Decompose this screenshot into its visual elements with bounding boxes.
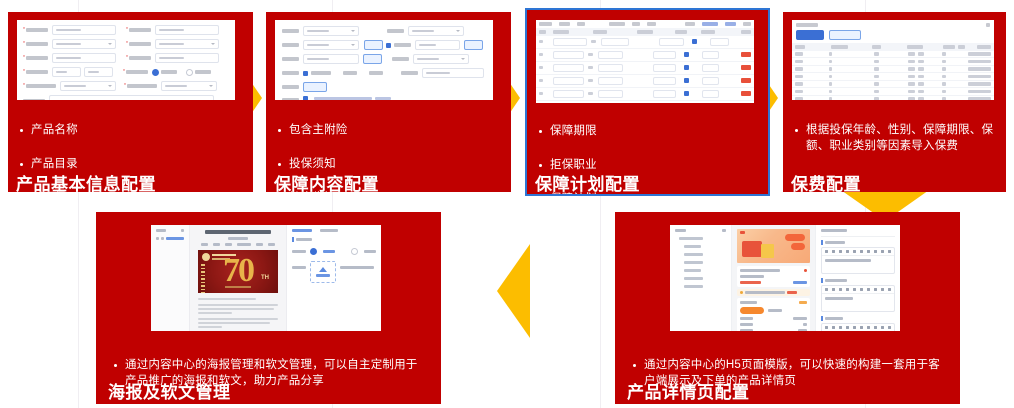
required-star-icon: * <box>126 56 128 60</box>
anniversary-th: TH <box>261 275 269 281</box>
required-star-icon: * <box>124 84 126 88</box>
poster-settings-panel[interactable] <box>286 225 381 331</box>
card-premium-config[interactable]: 根据投保年龄、性别、保障期限、保额、职业类别等因素导入保费 保费配置 <box>783 12 1006 192</box>
action-button[interactable] <box>363 54 382 64</box>
list-item: 包含主附险 <box>276 122 505 139</box>
table-row[interactable] <box>536 49 754 62</box>
select-field[interactable] <box>60 81 116 91</box>
card-coverage-content[interactable]: 包含主附险 投保须知 健康告知 保障条款 保障内容配置 <box>266 12 511 192</box>
card-title-product-detail-page: 产品详情页配置 <box>627 378 750 403</box>
plan-selector-card <box>737 298 810 331</box>
editor-toolbar[interactable] <box>822 248 894 256</box>
screenshot-product-basic-info-form: * * * * <box>17 20 235 100</box>
screenshot-coverage-plan-table <box>536 20 754 103</box>
list-item: 保障期限 <box>537 123 762 140</box>
screenshot-coverage-content-form <box>275 20 493 100</box>
action-button[interactable] <box>364 40 383 50</box>
card-title-coverage-content: 保障内容配置 <box>274 170 379 192</box>
h5-category-tree[interactable] <box>670 225 732 331</box>
card-product-basic-info[interactable]: * * * * <box>8 12 253 192</box>
card-product-detail-page[interactable]: 通过内容中心的H5页面模版，可以快速的构建一套用于客户端展示及下单的产品详情页 … <box>615 212 960 404</box>
required-star-icon: * <box>126 28 128 32</box>
promo-banner <box>737 229 810 263</box>
upload-icon <box>319 267 327 272</box>
list-item: 根据投保年龄、性别、保障期限、保额、职业类别等因素导入保费 <box>793 122 996 155</box>
flow-diagram: * * * * <box>0 0 1014 408</box>
arrow-detail-to-poster-icon <box>497 244 530 338</box>
table-row[interactable] <box>536 62 754 75</box>
rich-text-editor[interactable] <box>821 247 895 274</box>
required-star-icon: * <box>23 56 25 60</box>
table-row[interactable] <box>536 88 754 101</box>
editor-toolbar[interactable] <box>822 286 894 294</box>
required-star-icon: * <box>23 42 25 46</box>
table-row[interactable] <box>792 88 994 96</box>
checkbox-icon[interactable] <box>684 91 688 96</box>
rich-text-editor[interactable] <box>821 323 895 331</box>
card-title-product-basic-info: 产品基本信息配置 <box>16 170 156 192</box>
radio-on-icon[interactable] <box>152 69 159 76</box>
table-row[interactable] <box>792 58 994 66</box>
poster-preview: 70 TH <box>190 225 286 331</box>
table-row[interactable] <box>536 36 754 49</box>
editor-toolbar[interactable] <box>822 324 894 331</box>
card-title-premium-config: 保费配置 <box>791 170 861 192</box>
textarea-field[interactable] <box>49 95 214 100</box>
checkbox-icon[interactable] <box>692 39 697 44</box>
checkbox-icon[interactable] <box>303 96 308 100</box>
bullet-list-premium-config: 根据投保年龄、性别、保障期限、保额、职业类别等因素导入保费 <box>793 105 996 172</box>
list-item: 产品名称 <box>18 122 247 139</box>
action-button[interactable] <box>464 40 483 50</box>
poster-category-tree[interactable] <box>151 225 190 331</box>
poster-image: 70 TH <box>198 250 278 293</box>
screenshot-h5-detail-editor <box>670 225 900 331</box>
checkbox-icon[interactable] <box>684 78 688 83</box>
table-row[interactable] <box>792 81 994 89</box>
notice-bar <box>737 289 810 296</box>
date-field[interactable] <box>84 67 113 77</box>
screenshot-poster-editor: 70 TH <box>151 225 381 331</box>
table-row[interactable] <box>792 66 994 74</box>
select-field[interactable] <box>303 40 359 50</box>
table-toolbar <box>536 20 754 28</box>
table-row[interactable] <box>792 96 994 101</box>
delete-button[interactable] <box>741 52 751 57</box>
card-poster-article-management[interactable]: 70 TH <box>96 212 441 404</box>
table-row[interactable] <box>792 51 994 59</box>
select-field[interactable] <box>413 54 469 64</box>
plan-option[interactable] <box>768 309 782 312</box>
screenshot-premium-table <box>792 20 994 100</box>
h5-editor-panel[interactable] <box>815 225 900 331</box>
radio-off-icon[interactable] <box>351 248 358 255</box>
card-title-poster-article-management: 海报及软文管理 <box>108 378 231 403</box>
radio-off-icon[interactable] <box>186 69 193 76</box>
tab-base-settings[interactable] <box>292 229 312 232</box>
checkbox-icon[interactable] <box>386 43 391 48</box>
delete-button[interactable] <box>741 65 751 70</box>
required-star-icon: * <box>23 28 25 32</box>
required-star-icon: * <box>23 70 25 74</box>
select-field[interactable] <box>303 26 359 36</box>
table-row[interactable] <box>536 101 754 104</box>
plan-option-selected[interactable] <box>740 307 764 314</box>
select-field[interactable] <box>408 26 464 36</box>
select-field[interactable] <box>155 39 219 49</box>
select-field[interactable] <box>161 81 217 91</box>
date-field[interactable] <box>52 67 81 77</box>
radio-on-icon[interactable] <box>310 248 317 255</box>
required-star-icon: * <box>126 42 128 46</box>
checkbox-icon[interactable] <box>684 65 688 70</box>
import-button[interactable] <box>796 30 824 40</box>
tab-article-settings[interactable] <box>320 229 338 232</box>
tree-items[interactable] <box>675 237 726 288</box>
card-coverage-plan[interactable]: 保障期限 拒保职业 保障计划 必选保障&可选保障 保障计划配置 <box>525 8 770 196</box>
required-star-icon: * <box>123 70 125 74</box>
upload-dropzone[interactable] <box>310 261 336 283</box>
required-star-icon: * <box>23 84 25 88</box>
table-row[interactable] <box>792 73 994 81</box>
rich-text-editor[interactable] <box>821 285 895 312</box>
h5-phone-preview <box>732 225 815 331</box>
checkbox-icon[interactable] <box>303 71 308 76</box>
anniversary-number: 70 <box>223 252 253 290</box>
select-field[interactable] <box>52 39 116 49</box>
checkbox-icon[interactable] <box>684 52 688 57</box>
product-info-card <box>737 266 810 287</box>
card-title-coverage-plan: 保障计划配置 <box>535 170 640 195</box>
settings-tabs[interactable] <box>292 229 376 232</box>
table-row[interactable] <box>536 75 754 88</box>
delete-button[interactable] <box>741 78 751 83</box>
table-header <box>536 28 754 36</box>
delete-button[interactable] <box>741 91 751 96</box>
table-header <box>792 43 994 51</box>
download-template-button[interactable] <box>829 30 861 40</box>
action-button[interactable] <box>303 82 327 92</box>
